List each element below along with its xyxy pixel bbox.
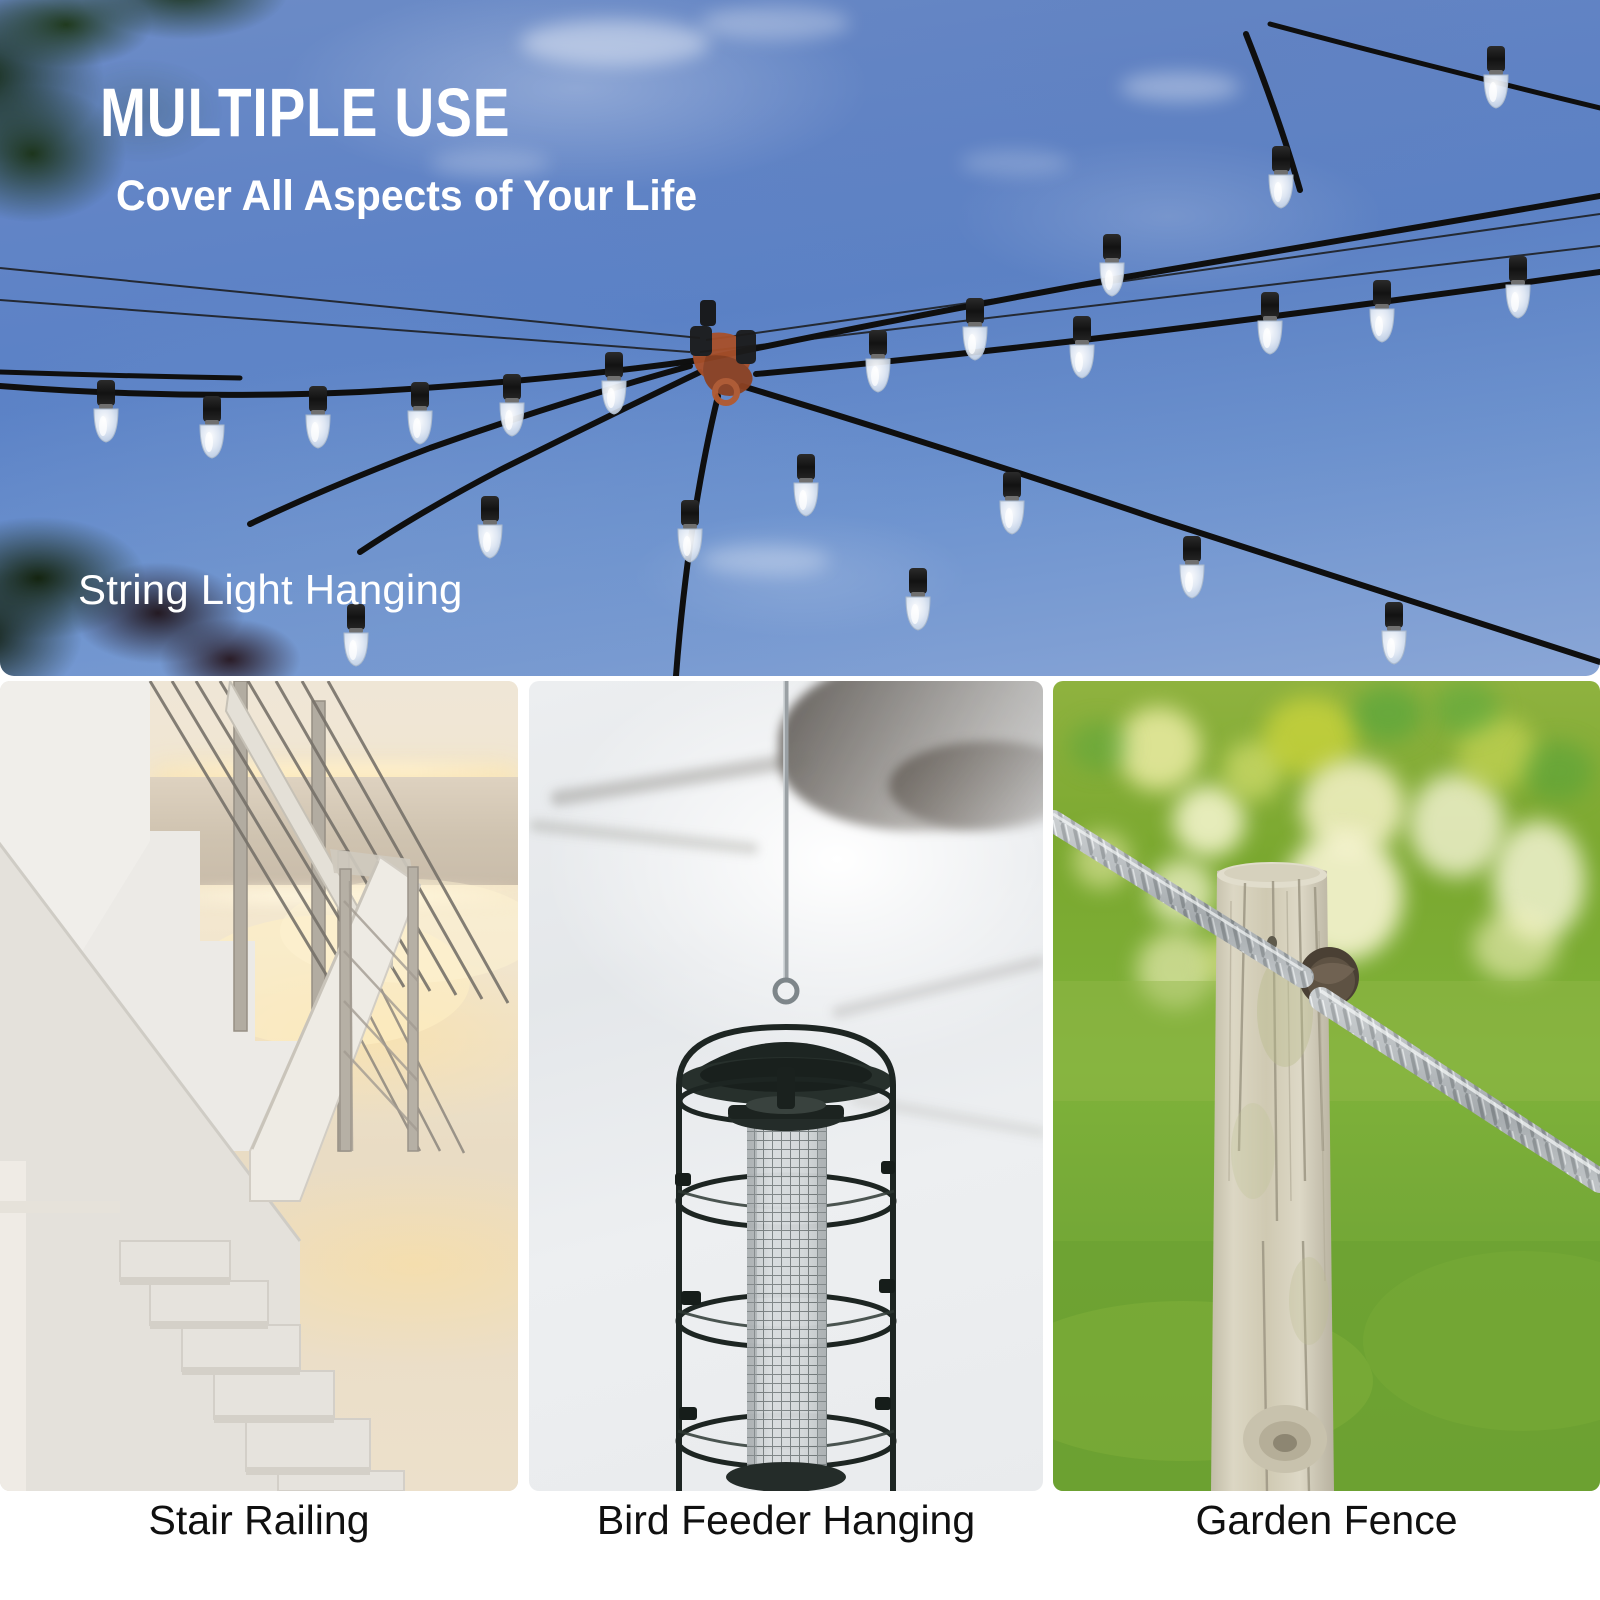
- light-bulb: [794, 454, 818, 516]
- light-bulb: [408, 382, 432, 444]
- light-bulb: [1100, 234, 1124, 296]
- wood-knot: [1243, 1405, 1327, 1473]
- panel-stair-railing[interactable]: [0, 681, 518, 1491]
- caption-stair-railing: Stair Railing: [0, 1497, 518, 1544]
- fence-post-and-cable-graphics: [1053, 681, 1600, 1491]
- page-title: MULTIPLE USE: [100, 78, 602, 148]
- light-bulb: [1370, 280, 1394, 342]
- panel-garden-fence[interactable]: [1053, 681, 1600, 1491]
- light-bulb: [866, 330, 890, 392]
- light-bulb: [94, 380, 118, 442]
- light-bulb: [1484, 46, 1508, 108]
- stair-and-railing-graphics: [0, 681, 518, 1491]
- light-bulb: [500, 374, 524, 436]
- panel-caption-row: Stair Railing Bird Feeder Hanging Garden…: [0, 1497, 1600, 1587]
- hero-heading-block: MULTIPLE USE Cover All Aspects of Your L…: [100, 78, 728, 221]
- page-subtitle: Cover All Aspects of Your Life: [116, 172, 697, 221]
- panel-bird-feeder-hanging[interactable]: [529, 681, 1043, 1491]
- light-bulb: [1506, 256, 1530, 318]
- hang-ring: [775, 980, 797, 1002]
- caged-bird-feeder-graphics: [529, 681, 1043, 1491]
- light-bulb: [906, 568, 930, 630]
- hero-caption-string-light-hanging: String Light Hanging: [78, 566, 463, 614]
- caption-bird-feeder-hanging: Bird Feeder Hanging: [529, 1497, 1043, 1544]
- light-bulb: [602, 352, 626, 414]
- cable-junction-hub: [690, 300, 756, 403]
- product-feature-page: MULTIPLE USE Cover All Aspects of Your L…: [0, 0, 1600, 1600]
- use-case-panel-row: [0, 681, 1600, 1491]
- light-bulb: [478, 496, 502, 558]
- light-bulb: [306, 386, 330, 448]
- light-bulb: [1070, 316, 1094, 378]
- light-bulb: [963, 298, 987, 360]
- light-bulb: [1258, 292, 1282, 354]
- light-bulb: [1382, 602, 1406, 664]
- caption-garden-fence: Garden Fence: [1053, 1497, 1600, 1544]
- light-bulb: [1000, 472, 1024, 534]
- light-bulb: [1180, 536, 1204, 598]
- light-bulb: [1269, 146, 1293, 208]
- light-bulb: [678, 500, 702, 562]
- light-bulb: [200, 396, 224, 458]
- hero-panel-string-light-hanging: MULTIPLE USE Cover All Aspects of Your L…: [0, 0, 1600, 676]
